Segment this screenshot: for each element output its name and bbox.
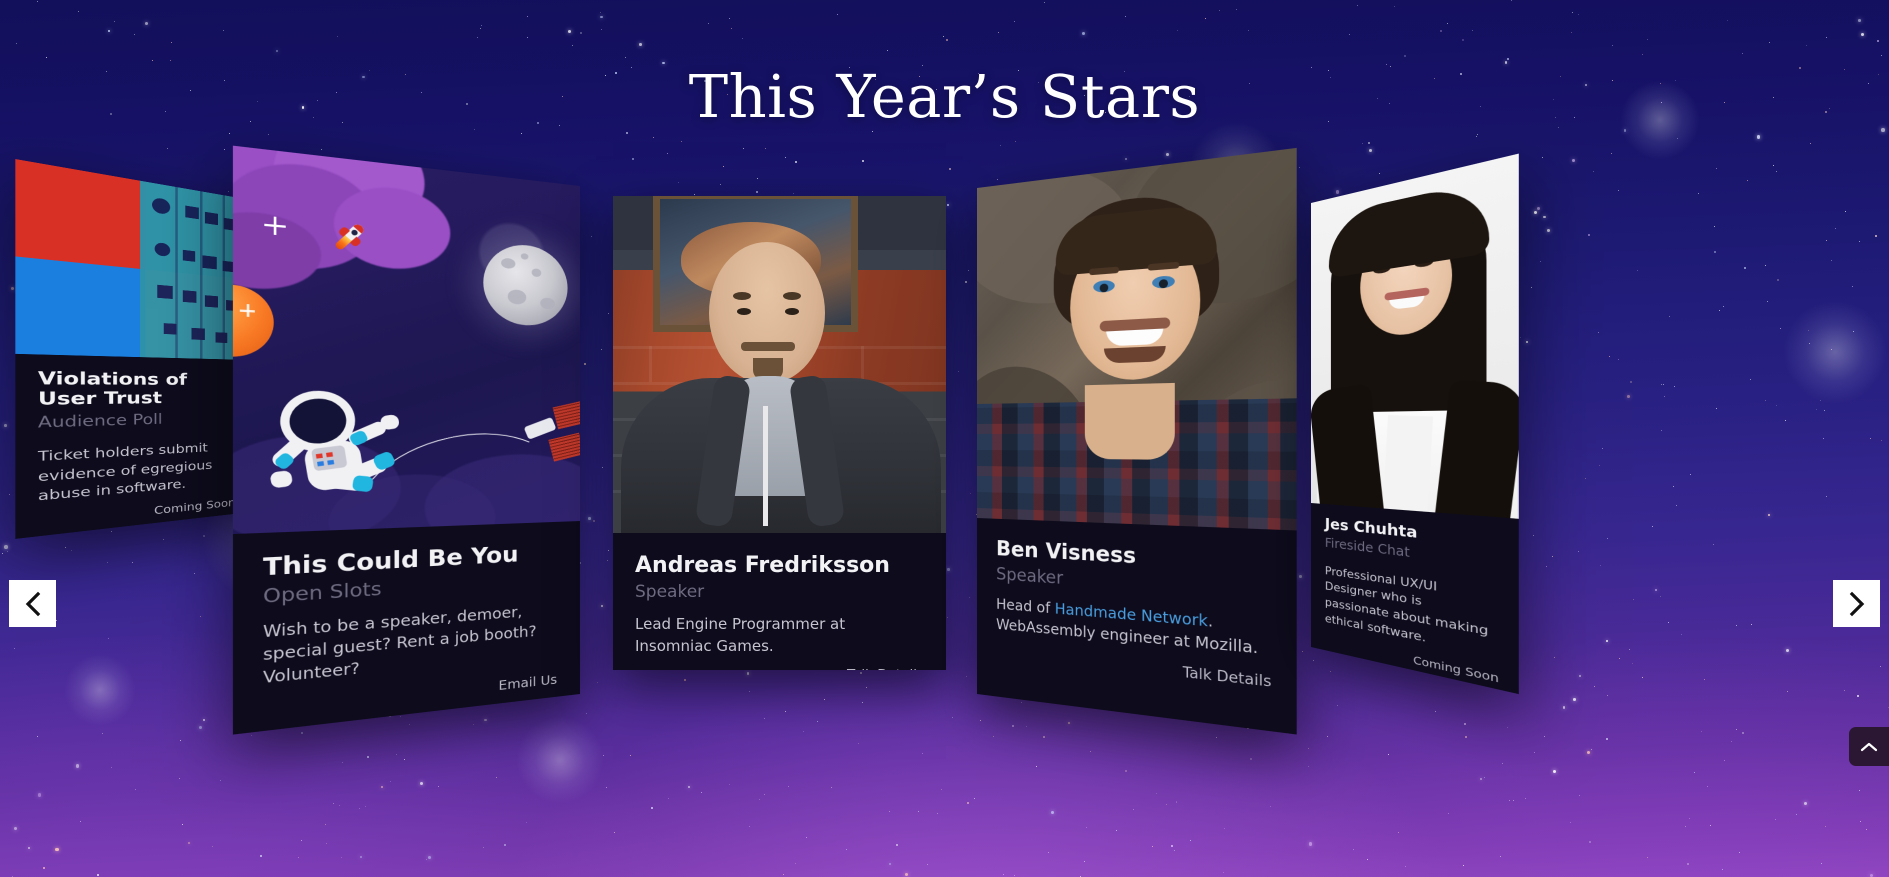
card-description: Ticket holders submit evidence of egregi… <box>38 438 235 506</box>
speaker-card[interactable]: Jes Chuhta Fireside Chat Professional UX… <box>1311 154 1519 695</box>
card-body: Ben Visness Speaker Head of Handmade Net… <box>977 518 1297 710</box>
card-media <box>233 146 580 534</box>
desc-text: Wish to be a speaker, demoer, special gu… <box>263 605 536 688</box>
speaker-photo <box>613 196 946 533</box>
speaker-card[interactable]: Ben Visness Speaker Head of Handmade Net… <box>977 148 1297 735</box>
card-media <box>1311 154 1519 519</box>
chevron-right-icon <box>1847 591 1867 617</box>
card-body: Jes Chuhta Fireside Chat Professional UX… <box>1311 503 1519 694</box>
card-body: This Could Be You Open Slots Wish to be … <box>233 521 580 735</box>
desc-text: Ticket holders submit evidence of egregi… <box>38 440 212 504</box>
card-media <box>15 159 251 360</box>
card-media <box>613 196 946 533</box>
card-media <box>977 148 1297 531</box>
chevron-up-icon <box>1860 741 1878 753</box>
scroll-to-top-button[interactable] <box>1849 727 1889 766</box>
card-description: Lead Engine Programmer at Insomniac Game… <box>635 614 924 657</box>
astronaut-illustration-icon <box>233 146 580 534</box>
desc-text: Professional UX/UI Designer who is passi… <box>1325 564 1488 645</box>
card-title: Andreas Fredriksson <box>635 553 924 578</box>
card-body: Andreas Fredriksson Speaker Lead Engine … <box>613 533 946 670</box>
desc-text-before: Head of <box>996 597 1055 618</box>
card-action-link[interactable]: Talk Details <box>635 667 924 670</box>
chevron-left-icon <box>23 591 43 617</box>
carousel-next-button[interactable] <box>1833 580 1880 627</box>
speakers-carousel: Violations of User Trust Audience Poll T… <box>0 0 1889 877</box>
speaker-photo <box>1311 154 1519 519</box>
speaker-photo <box>977 148 1297 531</box>
card-role: Audience Poll <box>38 410 235 434</box>
windows-logo-icon <box>15 159 251 360</box>
speaker-card[interactable]: This Could Be You Open Slots Wish to be … <box>233 146 580 735</box>
desc-text: Lead Engine Programmer at Insomniac Game… <box>635 615 845 654</box>
carousel-prev-button[interactable] <box>9 580 56 627</box>
card-title: Violations of User Trust <box>38 369 235 410</box>
speaker-card-featured[interactable]: Andreas Fredriksson Speaker Lead Engine … <box>613 196 946 670</box>
speaker-card[interactable]: Violations of User Trust Audience Poll T… <box>15 159 251 539</box>
card-body: Violations of User Trust Audience Poll T… <box>15 354 251 539</box>
page-title: This Year’s Stars <box>0 62 1889 131</box>
card-role: Speaker <box>635 581 924 603</box>
